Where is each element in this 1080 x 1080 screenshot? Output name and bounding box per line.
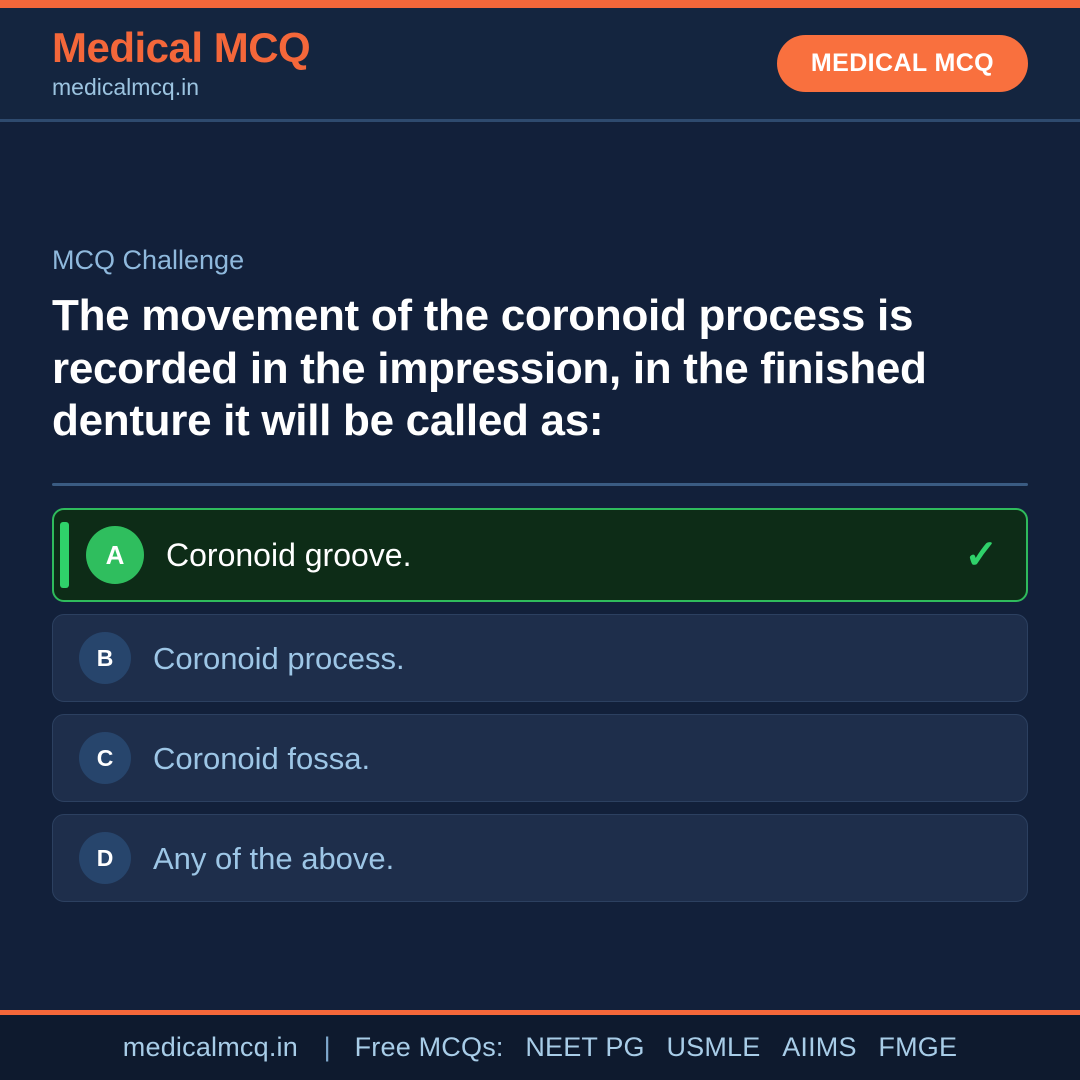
top-accent-bar <box>0 0 1080 8</box>
footer-tag-neetpg[interactable]: NEET PG <box>525 1032 644 1062</box>
option-b-text: Coronoid process. <box>153 640 999 677</box>
option-a-badge: A <box>86 526 144 584</box>
check-icon: ✓ <box>964 535 998 575</box>
brand-block: Medical MCQ medicalmcq.in <box>52 25 310 101</box>
footer-label: Free MCQs: <box>355 1032 504 1062</box>
option-c[interactable]: C Coronoid fossa. <box>52 714 1028 802</box>
footer-tag-fmge[interactable]: FMGE <box>878 1032 957 1062</box>
option-c-text: Coronoid fossa. <box>153 740 999 777</box>
brand-title: Medical MCQ <box>52 25 310 70</box>
footer-separator: | <box>324 1032 331 1062</box>
header: Medical MCQ medicalmcq.in MEDICAL MCQ <box>0 8 1080 122</box>
option-d-text: Any of the above. <box>153 840 999 877</box>
option-d[interactable]: D Any of the above. <box>52 814 1028 902</box>
question-text: The movement of the coronoid process is … <box>52 290 952 447</box>
question-divider <box>52 483 1028 486</box>
brand-subtitle: medicalmcq.in <box>52 73 310 102</box>
footer-text: medicalmcq.in | Free MCQs: NEET PG USMLE… <box>123 1032 957 1063</box>
options-list: A Coronoid groove. ✓ B Coronoid process.… <box>52 508 1028 902</box>
option-d-badge: D <box>79 832 131 884</box>
mcq-card: Medical MCQ medicalmcq.in MEDICAL MCQ MC… <box>0 0 1080 1080</box>
correct-accent-bar <box>60 522 69 588</box>
footer-tag-aiims[interactable]: AIIMS <box>782 1032 857 1062</box>
eyebrow-label: MCQ Challenge <box>52 244 1028 276</box>
option-b-badge: B <box>79 632 131 684</box>
main-content: MCQ Challenge The movement of the corono… <box>0 122 1080 1010</box>
footer-site[interactable]: medicalmcq.in <box>123 1032 298 1062</box>
footer: medicalmcq.in | Free MCQs: NEET PG USMLE… <box>0 1010 1080 1080</box>
option-a[interactable]: A Coronoid groove. ✓ <box>52 508 1028 602</box>
footer-tag-usmle[interactable]: USMLE <box>666 1032 760 1062</box>
option-c-badge: C <box>79 732 131 784</box>
option-a-text: Coronoid groove. <box>166 536 950 574</box>
brand-badge[interactable]: MEDICAL MCQ <box>777 35 1028 92</box>
option-b[interactable]: B Coronoid process. <box>52 614 1028 702</box>
